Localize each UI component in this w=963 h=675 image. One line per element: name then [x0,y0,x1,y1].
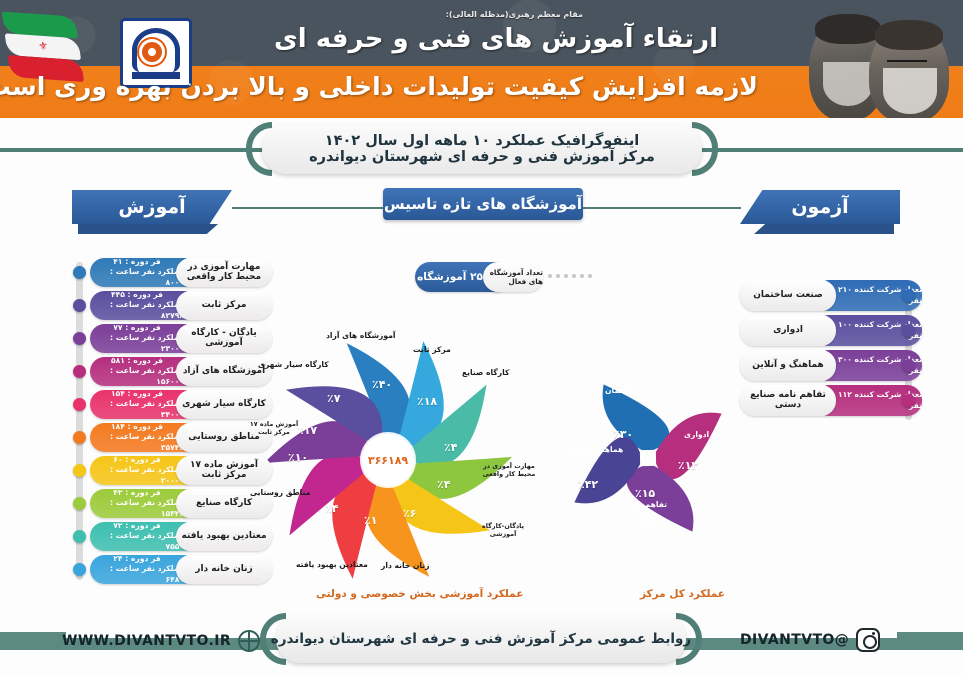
pinwheel-petal-percent: ٪۷ [327,392,340,405]
exam-item-row[interactable]: تعداد شرکت کننده ۲۱۰ نفرصنعت ساختمان [740,280,922,311]
education-item-hours: عملکرد نفر ساعت : ۶۴۸۰ [90,564,184,585]
pinwheel-category-label: زنان خانه دار [381,561,430,571]
leaders-portrait-icon [793,0,963,118]
section-header-new-schools: آموزشگاه های تازه تاسیس [383,188,583,220]
education-timeline-node [73,398,86,411]
education-timeline-node [73,431,86,444]
education-item-courses: فر دوره : ۶۰ [113,455,160,465]
footer-edge-left [0,632,66,646]
pinwheel4-category-label: صنعت ساختمان [605,386,664,395]
ribbon-tail-education [78,224,218,234]
exam-timeline-node [902,359,915,372]
pinwheel4-petal-percent: ٪۴۲ [578,478,598,491]
pinwheel-petal-percent: ٪۱ [364,514,377,527]
pinwheel-petal-percent: ٪۴۰ [372,378,392,391]
chart-caption-education: عملکرد آموزشی بخش خصوصی و دولتی [316,588,523,600]
education-item-row[interactable]: فر دوره : ۴۱عملکرد نفر ساعت : ۸۰۰۰مهارت … [90,258,272,287]
pinwheel4-category-label: تفاهم نامه صنایع دستی [625,500,669,528]
pinwheel-category-label: مناطق روستایی [250,488,310,498]
education-item-hours: عملکرد نفر ساعت : ۷۵۵۰ [90,531,184,552]
education-item-name: مهارت آموزی در محیط کار واقعی [176,258,272,287]
leader-attribution: مقام معظم رهبری(مدظله العالی): [446,10,583,19]
globe-icon [238,630,260,652]
pinwheel4-petal-percent: ٪۳۰ [613,428,633,441]
pinwheel-petal-percent: ٪۱۸ [417,395,437,408]
education-timeline-node [73,332,86,345]
education-item-row[interactable]: فر دوره : ۶۰عملکرد نفر ساعت : ۲۰۰۰۰آموزش… [90,456,272,485]
education-item-row[interactable]: فر دوره : ۴۲عملکرد نفر ساعت : ۱۵۴۴۳کارگا… [90,489,272,518]
exam-item-name: ادواری [740,315,836,346]
footer-website[interactable]: WWW.DIVANTVTO.IR [62,630,260,652]
education-item-row[interactable]: فر دوره : ۴۴۵عملکرد نفر ساعت : ۸۲۷۹۸مرکز… [90,291,272,320]
education-item-name: مرکز ثابت [176,291,272,320]
ribbon-tail-exam [754,224,894,234]
education-item-hours: عملکرد نفر ساعت : ۱۵۶۰۰۰ [90,366,184,387]
footer-website-text: WWW.DIVANTVTO.IR [62,633,231,649]
exam-timeline-node [902,324,915,337]
exam-item-name: تفاهم نامه صنایع دستی [740,385,836,416]
education-item-courses: فر دوره : ۴۴۵ [111,290,163,300]
education-item-row[interactable]: فر دوره : ۲۴عملکرد نفر ساعت : ۶۴۸۰زنان خ… [90,555,272,584]
education-item-courses: فر دوره : ۴۲ [113,488,160,498]
page-title: اینفوگرافیک عملکرد ۱۰ ماهه اول سال ۱۴۰۲ … [262,124,702,174]
chart-caption-total: عملکرد کل مرکز [640,588,725,600]
education-timeline-node [73,530,86,543]
education-item-courses: فر دوره : ۷۲ [113,521,160,531]
education-timeline-node [73,299,86,312]
education-item-row[interactable]: فر دوره : ۱۵۴عملکرد نفر ساعت : ۳۴۰۰۰کارگ… [90,390,272,419]
pinwheel-category-label: مرکز ثابت [413,345,451,355]
active-schools-label: تعداد آموزشگاه های فعال [483,262,543,292]
pinwheel-petal-percent: ٪۱۰ [288,451,308,464]
pinwheel-petal-percent: ٪۴ [437,478,450,491]
pinwheel-petal-percent: ٪۴ [325,502,338,515]
pinwheel4-petal-percent: ٪۱۵ [635,487,655,500]
exam-item-name: صنعت ساختمان [740,280,836,311]
page-title-line-2: مرکز آموزش فنی و حرفه ای شهرستان دیواندر… [309,149,655,165]
exam-timeline-node [902,394,915,407]
pinwheel-category-label: پادگان-کارگاه آموزشی [472,522,534,539]
pinwheel4-petal-percent: ٪۱۳ [678,459,698,472]
pinwheel-category-label: معتادین بهبود یافته [296,560,368,570]
header-headline-2: لازمه افزایش کیفیت تولیدات داخلی و بالا … [0,72,758,101]
header-headline-1: ارتقاء آموزش های فنی و حرفه ای [274,24,718,54]
section-header-education: آموزش [72,190,232,224]
education-item-courses: فر دوره : ۱۵۴ [111,389,163,399]
exam-timeline-node [902,289,915,302]
badge-connector-dots [548,274,592,278]
education-item-hours: عملکرد نفر ساعت : ۱۵۴۴۳ [90,498,184,519]
connector-line-right [583,207,741,209]
exam-item-row[interactable]: تعداد شرکت کننده ۱۰۰ نفرادواری [740,315,922,346]
education-item-courses: فر دوره : ۴۱ [113,257,160,267]
education-item-row[interactable]: فر دوره : ۷۷عملکرد نفر ساعت : ۲۳۰۰۰یادگا… [90,324,272,353]
instagram-icon [856,628,880,652]
pinwheel4-category-label: هماهنگ و آنلاین [563,445,623,454]
education-item-hours: عملکرد نفر ساعت : ۲۰۰۰۰ [90,465,184,486]
education-item-name: کارگاه سیار شهری [176,390,272,419]
infographic-page: ⚜ مقام معظم رهبری(مدظله العالی): ارتقاء … [0,0,963,675]
exam-item-row[interactable]: تعداد شرکت کننده ۱۱۲ نفرتفاهم نامه صنایع… [740,385,922,416]
education-item-courses: فر دوره : ۲۴ [113,554,160,564]
education-item-courses: فر دوره : ۱۸۴ [111,422,163,432]
education-item-hours: عملکرد نفر ساعت : ۸۲۷۹۸ [90,300,184,321]
header-banner: ⚜ مقام معظم رهبری(مدظله العالی): ارتقاء … [0,0,963,118]
pinwheel-center-total: ۳۶۶۱۸۹ [362,434,414,486]
education-item-row[interactable]: فر دوره : ۷۲عملکرد نفر ساعت : ۷۵۵۰معتادی… [90,522,272,551]
education-item-name: زنان خانه دار [176,555,272,584]
education-item-hours: عملکرد نفر ساعت : ۸۰۰۰ [90,267,184,288]
connector-line-left [232,207,384,209]
pinwheel-category-label: آموزشگاه های آزاد [326,331,396,341]
education-item-name: معتادین بهبود یافته [176,522,272,551]
footer-instagram-text: @DIVANTVTO [740,632,849,648]
pinwheel-category-label: آموزش ماده ۱۷ مرکز ثابت [243,420,305,437]
education-item-name: آموزش ماده ۱۷ مرکز ثابت [176,456,272,485]
pinwheel-category-label: کارگاه صنایع [462,368,509,378]
footer-instagram[interactable]: @DIVANTVTO [740,628,880,652]
pinwheel4-category-label: ادواری [684,430,709,439]
footer-edge-right [897,632,963,646]
education-timeline-node [73,266,86,279]
education-timeline-node [73,464,86,477]
footer-organization: روابط عمومی مرکز آموزش فنی و حرفه ای شهر… [276,615,686,663]
exam-item-name: هماهنگ و آنلاین [740,350,836,381]
education-timeline-node [73,365,86,378]
education-item-hours: عملکرد نفر ساعت : ۳۴۰۰۰ [90,399,184,420]
pinwheel-category-label: مهارت آموزی در محیط کار واقعی [478,462,540,479]
education-item-name: یادگان - کارگاه آموزشی [176,324,272,353]
pinwheel-category-label: کارگاه سیار شهری [258,360,329,370]
education-item-row[interactable]: فر دوره : ۵۸۱عملکرد نفر ساعت : ۱۵۶۰۰۰آمو… [90,357,272,386]
education-timeline-node [73,563,86,576]
pinwheel-petal-percent: ٪۶ [403,507,416,520]
education-item-hours: عملکرد نفر ساعت : ۳۵۷۴۶ [90,432,184,453]
pinwheel-petal-percent: ٪۴ [444,441,457,454]
exam-items-list: تعداد شرکت کننده ۲۱۰ نفرصنعت ساختمانتعدا… [740,280,922,420]
page-title-line-1: اینفوگرافیک عملکرد ۱۰ ماهه اول سال ۱۴۰۲ [325,133,640,149]
education-item-courses: فر دوره : ۷۷ [113,323,160,333]
active-schools-badge: تعداد آموزشگاه های فعال ۲۵ آموزشگاه [415,262,543,292]
exam-item-row[interactable]: تعداد شرکت کننده ۳۰۰ نفرهماهنگ و آنلاین [740,350,922,381]
education-item-courses: فر دوره : ۵۸۱ [111,356,163,366]
section-header-exam: آزمون [740,190,900,224]
education-item-hours: عملکرد نفر ساعت : ۲۳۰۰۰ [90,333,184,354]
education-timeline-node [73,497,86,510]
